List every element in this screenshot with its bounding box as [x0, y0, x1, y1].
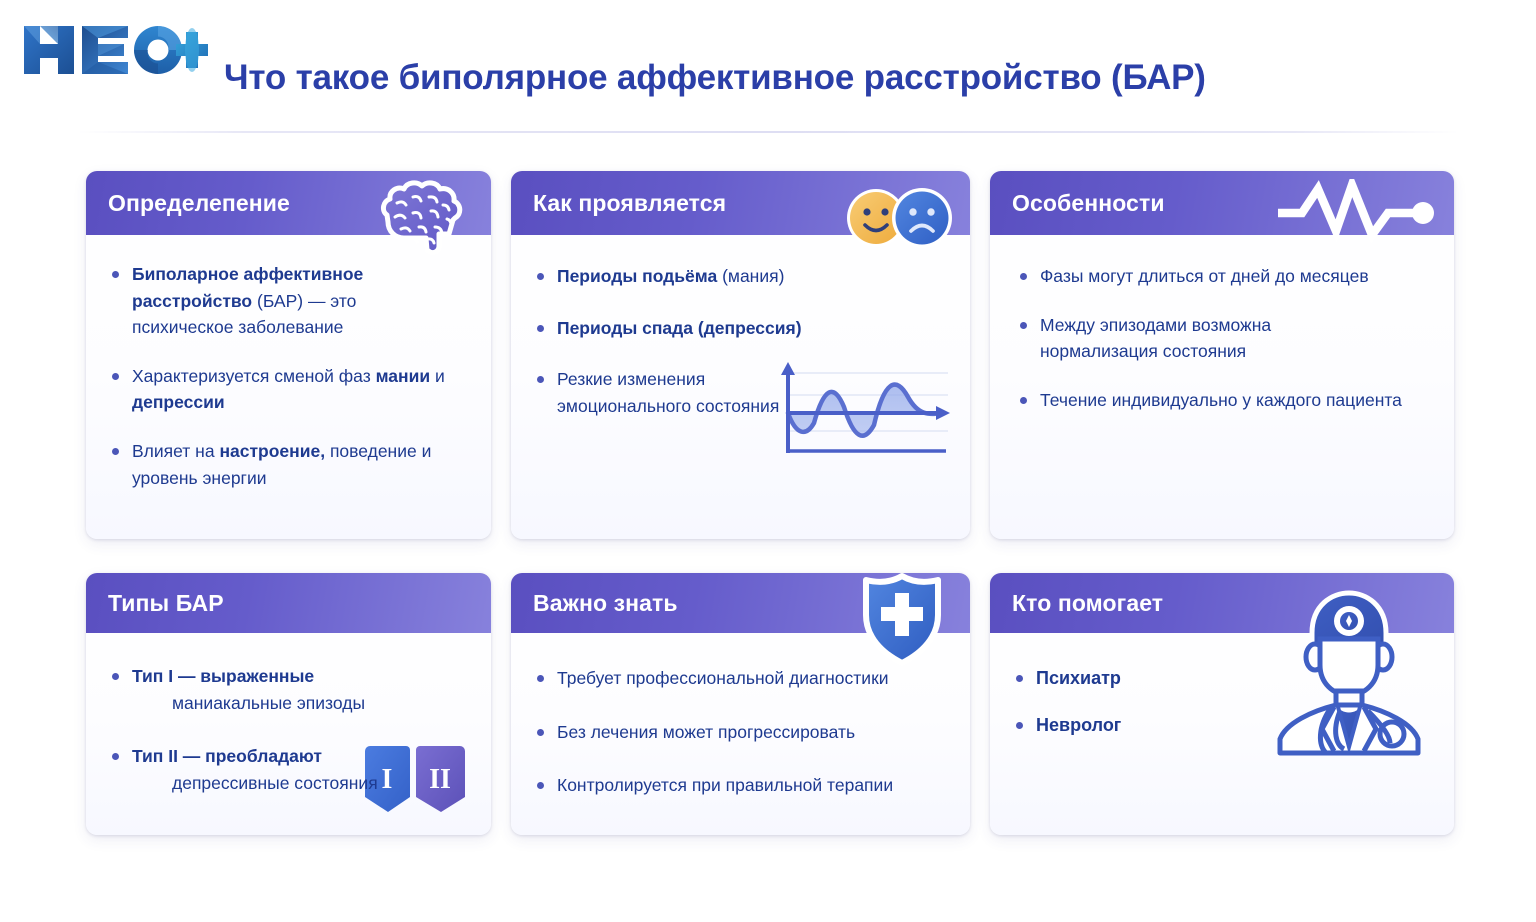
bullet-regular: Без лечения может прогрессировать	[557, 722, 855, 742]
bullet-regular: Течение индивидуально у каждого пациента	[1040, 390, 1402, 410]
bullet-bold: настроение,	[219, 441, 325, 461]
card-title: Важно знать	[511, 590, 678, 617]
bullet-regular: (мания)	[717, 266, 784, 286]
bullet-list: Тип I — выраженные маниакальные эпизоды …	[108, 663, 469, 796]
bullet-list: Психиатр Невролог	[1012, 665, 1432, 740]
card-body: Фазы могут длиться от дней до месяцев Ме…	[990, 235, 1454, 445]
bullet-list: Фазы могут длиться от дней до месяцев Ме…	[1016, 263, 1432, 413]
card-header: Типы БАР	[86, 573, 491, 633]
list-item: Контролируется при правильной терапии	[533, 772, 948, 799]
card-header: Особенности	[990, 171, 1454, 235]
list-item: Без лечения может прогрессировать	[533, 719, 948, 746]
list-item: Течение индивидуально у каждого пациента	[1016, 387, 1432, 414]
bullet-regular: Требует профессиональной диагностики	[557, 668, 889, 688]
card-body: Психиатр Невролог	[990, 633, 1454, 770]
bullet-bold: Тип I — выраженные	[132, 666, 314, 686]
card-definition[interactable]: Определепение	[86, 171, 491, 539]
bullet-bold: Тип II — преобладают	[132, 746, 322, 766]
title-divider	[78, 131, 1459, 133]
list-item: Тип I — выраженные маниакальные эпизоды	[108, 663, 469, 716]
card-who-helps[interactable]: Кто помогает	[990, 573, 1454, 835]
card-header: Кто помогает	[990, 573, 1454, 633]
bullet-regular: Фазы могут длиться от дней до месяцев	[1040, 266, 1369, 286]
list-item: Тип II — преобладают депрессивные состоя…	[108, 743, 469, 796]
list-item: Влияет на настроение, поведение и уровен…	[108, 438, 458, 491]
card-types[interactable]: Типы БАР Тип I — выраженные маниакальные…	[86, 573, 491, 835]
bullet-indent: депрессивные состояния	[132, 770, 469, 797]
bullet-list: Периоды подьёма (мания) Периоды спада (д…	[533, 263, 948, 419]
bullet-regular: Влияет на	[132, 441, 219, 461]
bullet-regular: Резкие изменения эмоционального состояни…	[557, 369, 779, 416]
card-title: Как проявляется	[511, 190, 726, 217]
list-item: Характеризуется сменой фаз мании и депре…	[108, 363, 458, 416]
card-body: Периоды подьёма (мания) Периоды спада (д…	[511, 235, 970, 454]
card-important[interactable]: Важно знать Требует профессиональной диа…	[511, 573, 970, 835]
card-title: Определепение	[86, 190, 290, 217]
card-manifestation[interactable]: Как проявляется	[511, 171, 970, 539]
card-title: Типы БАР	[86, 590, 224, 617]
card-grid: Определепение	[86, 171, 1454, 835]
bullet-bold-2: депрессии	[132, 392, 225, 412]
card-title: Кто помогает	[990, 590, 1163, 617]
card-header: Определепение	[86, 171, 491, 235]
list-item: Психиатр	[1012, 665, 1432, 692]
bullet-list: Требует профессиональной диагностики Без…	[533, 665, 948, 799]
bullet-list: Биполарное аффективное расстройство (БАР…	[108, 261, 469, 491]
list-item: Резкие изменения эмоционального состояни…	[533, 366, 783, 419]
bullet-regular: Между эпизодами возможна нормализация со…	[1040, 315, 1271, 362]
list-item: Между эпизодами возможна нормализация со…	[1016, 312, 1316, 365]
card-body: Требует профессиональной диагностики Без…	[511, 633, 970, 836]
bullet-regular: Характеризуется сменой фаз	[132, 366, 376, 386]
infographic-page: Что такое биполярное аффективное расстро…	[0, 0, 1536, 922]
card-header: Важно знать	[511, 573, 970, 633]
card-features[interactable]: Особенности Фазы могут длиться от дней д…	[990, 171, 1454, 539]
list-item: Периоды подьёма (мания)	[533, 263, 948, 290]
list-item: Требует профессиональной диагностики	[533, 665, 948, 692]
bullet-mid: и	[430, 366, 445, 386]
bullet-bold: Периоды подьёма	[557, 266, 717, 286]
page-title: Что такое биполярное аффективное расстро…	[224, 58, 1206, 98]
card-body: Биполарное аффективное расстройство (БАР…	[86, 235, 491, 523]
list-item: Биполарное аффективное расстройство (БАР…	[108, 261, 458, 341]
neo-plus-logo	[18, 18, 208, 80]
bullet-regular: Контролируется при правильной терапии	[557, 775, 893, 795]
card-body: Тип I — выраженные маниакальные эпизоды …	[86, 633, 491, 833]
bullet-indent: маниакальные эпизоды	[132, 690, 469, 717]
card-title: Особенности	[990, 190, 1165, 217]
bullet-bold: Невролог	[1036, 715, 1121, 735]
list-item: Фазы могут длиться от дней до месяцев	[1016, 263, 1432, 290]
card-header: Как проявляется	[511, 171, 970, 235]
list-item: Периоды спада (депрессия)	[533, 315, 948, 342]
bullet-bold: Психиатр	[1036, 668, 1121, 688]
bullet-bold: Периоды спада (депрессия)	[557, 318, 802, 338]
bullet-bold: мании	[376, 366, 431, 386]
list-item: Невролог	[1012, 712, 1432, 739]
